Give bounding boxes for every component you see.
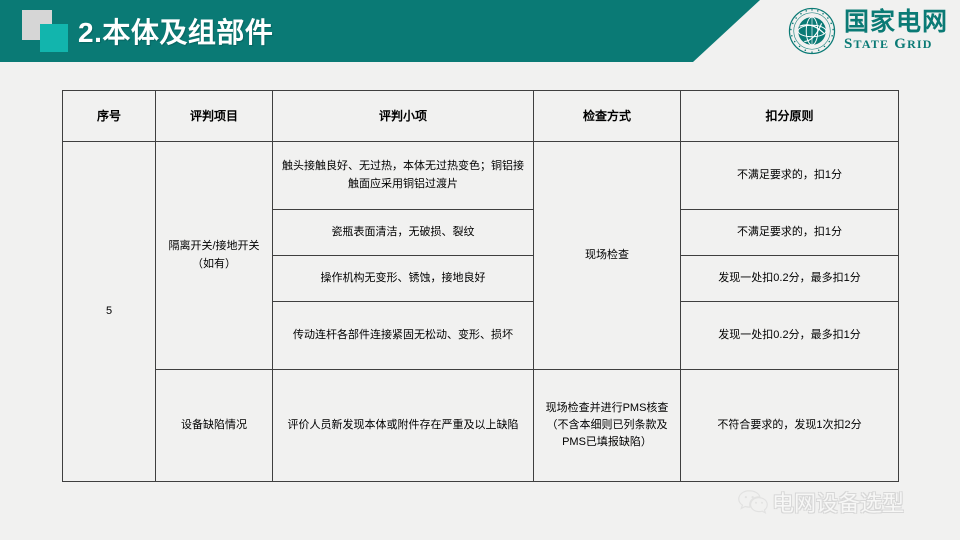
state-grid-emblem-icon (788, 7, 836, 55)
column-header-item: 评判项目 (156, 91, 273, 142)
brand-name-cn: 国家电网 (844, 10, 948, 35)
column-header-subitem: 评判小项 (273, 91, 534, 142)
cell-rule: 发现一处扣0.2分，最多扣1分 (681, 302, 899, 370)
cell-subitem: 操作机构无变形、锈蚀，接地良好 (273, 256, 534, 302)
brand-name-en: STATE GRID (844, 37, 948, 52)
cell-rule: 不符合要求的，发现1次扣2分 (681, 370, 899, 482)
state-grid-logo: 国家电网 STATE GRID (788, 6, 948, 56)
cell-serial-number: 5 (63, 142, 156, 482)
cell-item-disconnector: 隔离开关/接地开关（如有） (156, 142, 273, 370)
cell-subitem: 评价人员新发现本体或附件存在严重及以上缺陷 (273, 370, 534, 482)
brand-en-rid: RID (907, 37, 933, 51)
decorative-squares (22, 10, 78, 54)
brand-en-s: S (844, 36, 854, 52)
cell-method-pms: 现场检查并进行PMS核查（不含本细则已列条款及PMS已填报缺陷） (534, 370, 681, 482)
brand-en-g: G (894, 36, 907, 52)
cell-subitem: 传动连杆各部件连接紧固无松动、变形、损坏 (273, 302, 534, 370)
cell-subitem: 瓷瓶表面清洁，无破损、裂纹 (273, 210, 534, 256)
cell-rule: 不满足要求的，扣1分 (681, 142, 899, 210)
column-header-method: 检查方式 (534, 91, 681, 142)
state-grid-logo-text: 国家电网 STATE GRID (844, 10, 948, 52)
cell-rule: 不满足要求的，扣1分 (681, 210, 899, 256)
table-header-row: 序号 评判项目 评判小项 检查方式 扣分原则 (63, 91, 899, 142)
evaluation-table: 序号 评判项目 评判小项 检查方式 扣分原则 5 隔离开关/接地开关（如有） 触… (62, 90, 899, 482)
table-row: 5 隔离开关/接地开关（如有） 触头接触良好、无过热，本体无过热变色；铜铝接触面… (63, 142, 899, 210)
brand-en-tate: TATE (854, 37, 890, 51)
wechat-icon (738, 489, 768, 515)
column-header-serial: 序号 (63, 91, 156, 142)
cell-subitem: 触头接触良好、无过热，本体无过热变色；铜铝接触面应采用铜铝过渡片 (273, 142, 534, 210)
column-header-rule: 扣分原则 (681, 91, 899, 142)
cell-method-onsite: 现场检查 (534, 142, 681, 370)
decorative-square-teal (40, 24, 68, 52)
table-row: 设备缺陷情况 评价人员新发现本体或附件存在严重及以上缺陷 现场检查并进行PMS核… (63, 370, 899, 482)
watermark: 电网设备选型 (738, 486, 904, 518)
cell-rule: 发现一处扣0.2分，最多扣1分 (681, 256, 899, 302)
page-header: 2.本体及组部件 国家电网 (0, 0, 960, 62)
watermark-text: 电网设备选型 (772, 486, 904, 518)
cell-item-defect: 设备缺陷情况 (156, 370, 273, 482)
page-title: 2.本体及组部件 (78, 11, 273, 51)
